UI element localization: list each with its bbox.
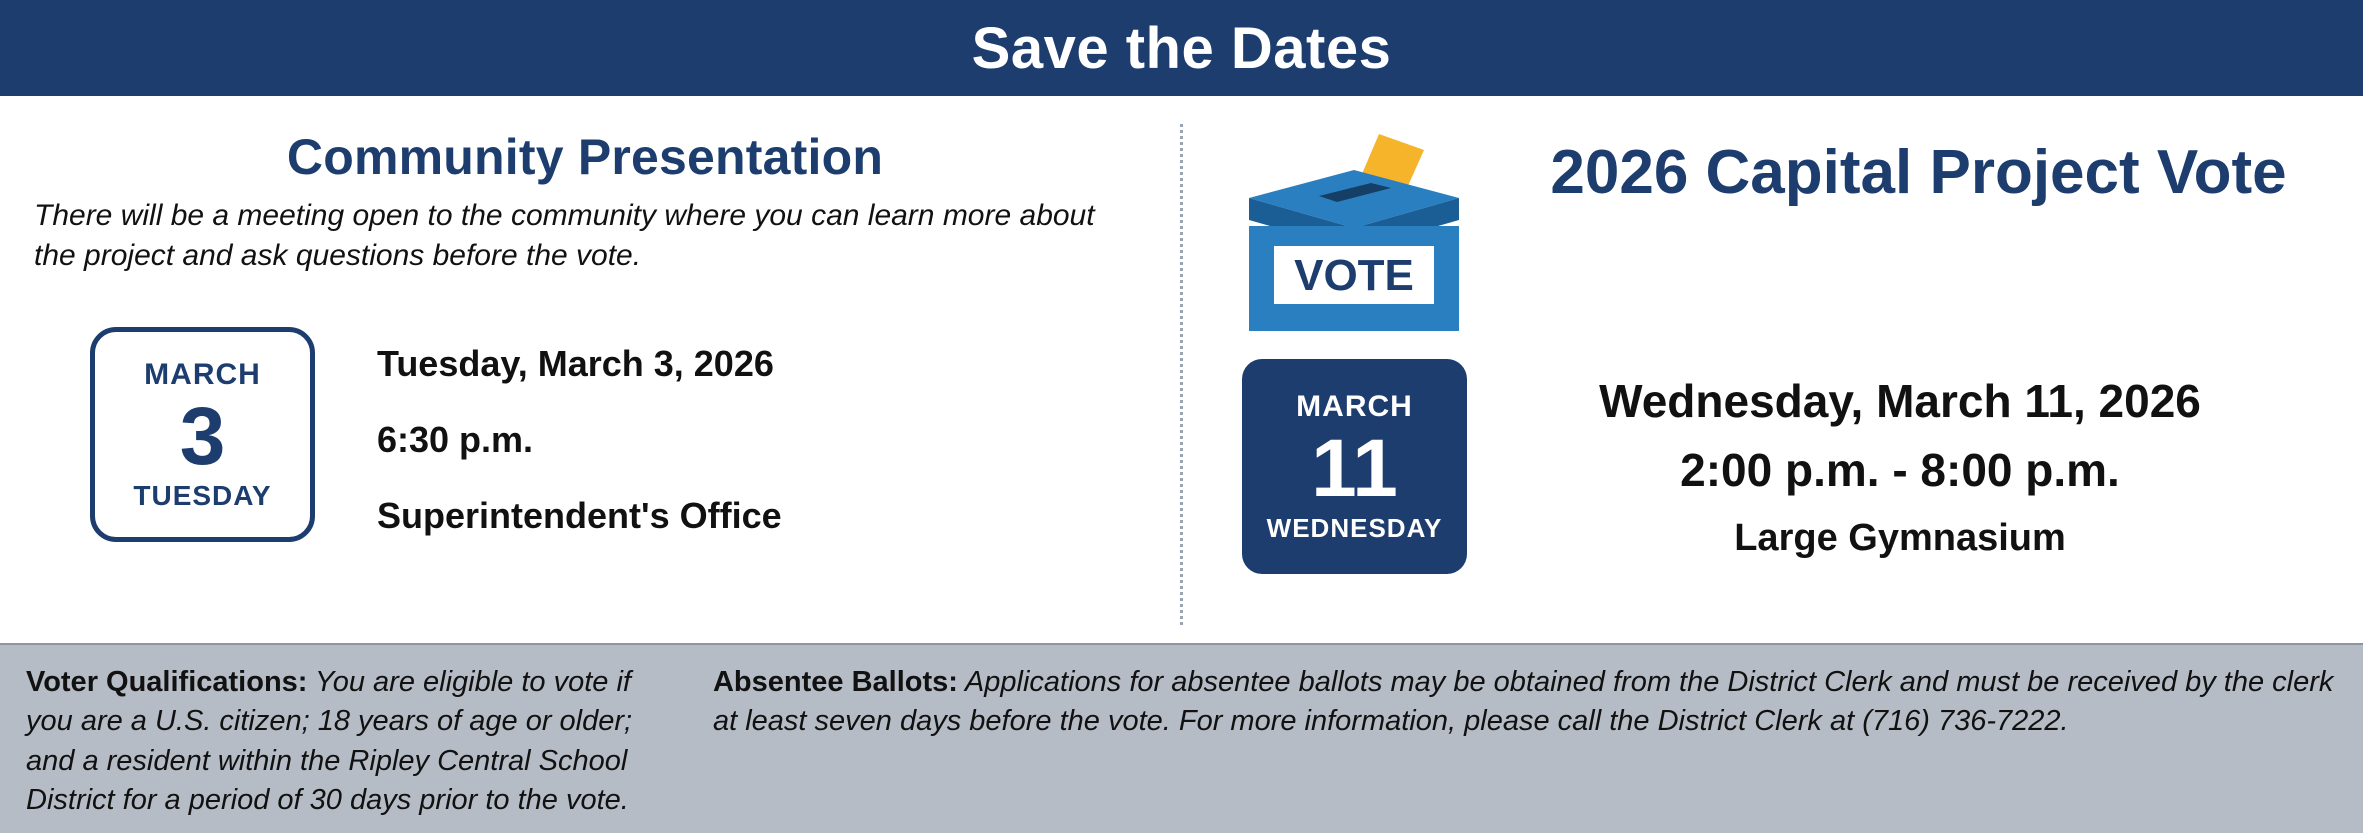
vote-date: Wednesday, March 11, 2026 <box>1467 375 2333 428</box>
vote-location: Large Gymnasium <box>1467 517 2333 561</box>
date-badge-month: MARCH <box>144 360 261 390</box>
save-the-dates-poster: Save the Dates Community Presentation Th… <box>0 0 2363 833</box>
vote-title: 2026 Capital Project Vote <box>1504 114 2333 207</box>
poster-footer: Voter Qualifications: You are eligible t… <box>0 643 2363 833</box>
voter-qualifications-label: Voter Qualifications: <box>26 666 307 698</box>
voter-qualifications-note: Voter Qualifications: You are eligible t… <box>26 663 691 823</box>
presentation-date: Tuesday, March 3, 2026 <box>377 343 782 385</box>
poster-body: Community Presentation There will be a m… <box>0 96 2363 643</box>
date-badge-weekday: TUESDAY <box>133 482 271 510</box>
community-presentation-title: Community Presentation <box>28 128 1142 186</box>
vote-badge-month: MARCH <box>1296 392 1413 422</box>
date-badge-day: 3 <box>180 394 226 480</box>
vote-info: Wednesday, March 11, 2026 2:00 p.m. - 8:… <box>1467 359 2333 560</box>
absentee-ballots-note: Absentee Ballots: Applications for absen… <box>691 663 2337 823</box>
ballot-box-illustration-wrap: VOTE <box>1204 114 1504 343</box>
absentee-ballots-label: Absentee Ballots: <box>713 666 958 698</box>
vote-badge-day: 11 <box>1311 426 1398 512</box>
date-badge-march-3: MARCH 3 TUESDAY <box>90 327 315 542</box>
presentation-location: Superintendent's Office <box>377 495 782 537</box>
date-badge-march-11: MARCH 11 WEDNESDAY <box>1242 359 1467 574</box>
ballot-box-label: VOTE <box>1294 251 1414 300</box>
poster-header: Save the Dates <box>0 0 2363 96</box>
page-title: Save the Dates <box>972 15 1392 82</box>
vote-badge-weekday: WEDNESDAY <box>1267 515 1443 541</box>
presentation-time: 6:30 p.m. <box>377 419 782 461</box>
community-presentation-info: Tuesday, March 3, 2026 6:30 p.m. Superin… <box>377 327 782 537</box>
community-presentation-description: There will be a meeting open to the comm… <box>34 196 1136 275</box>
community-presentation-section: Community Presentation There will be a m… <box>0 96 1180 643</box>
ballot-box-icon: VOTE <box>1219 128 1489 343</box>
vote-time: 2:00 p.m. - 8:00 p.m. <box>1467 444 2333 497</box>
vote-details-row: MARCH 11 WEDNESDAY Wednesday, March 11, … <box>1204 359 2333 574</box>
capital-project-vote-section: VOTE 2026 Capital Project Vote MARCH 11 … <box>1180 96 2363 643</box>
column-divider <box>1180 124 1183 625</box>
community-presentation-details: MARCH 3 TUESDAY Tuesday, March 3, 2026 6… <box>28 327 1142 542</box>
vote-header-row: VOTE 2026 Capital Project Vote <box>1204 114 2333 343</box>
